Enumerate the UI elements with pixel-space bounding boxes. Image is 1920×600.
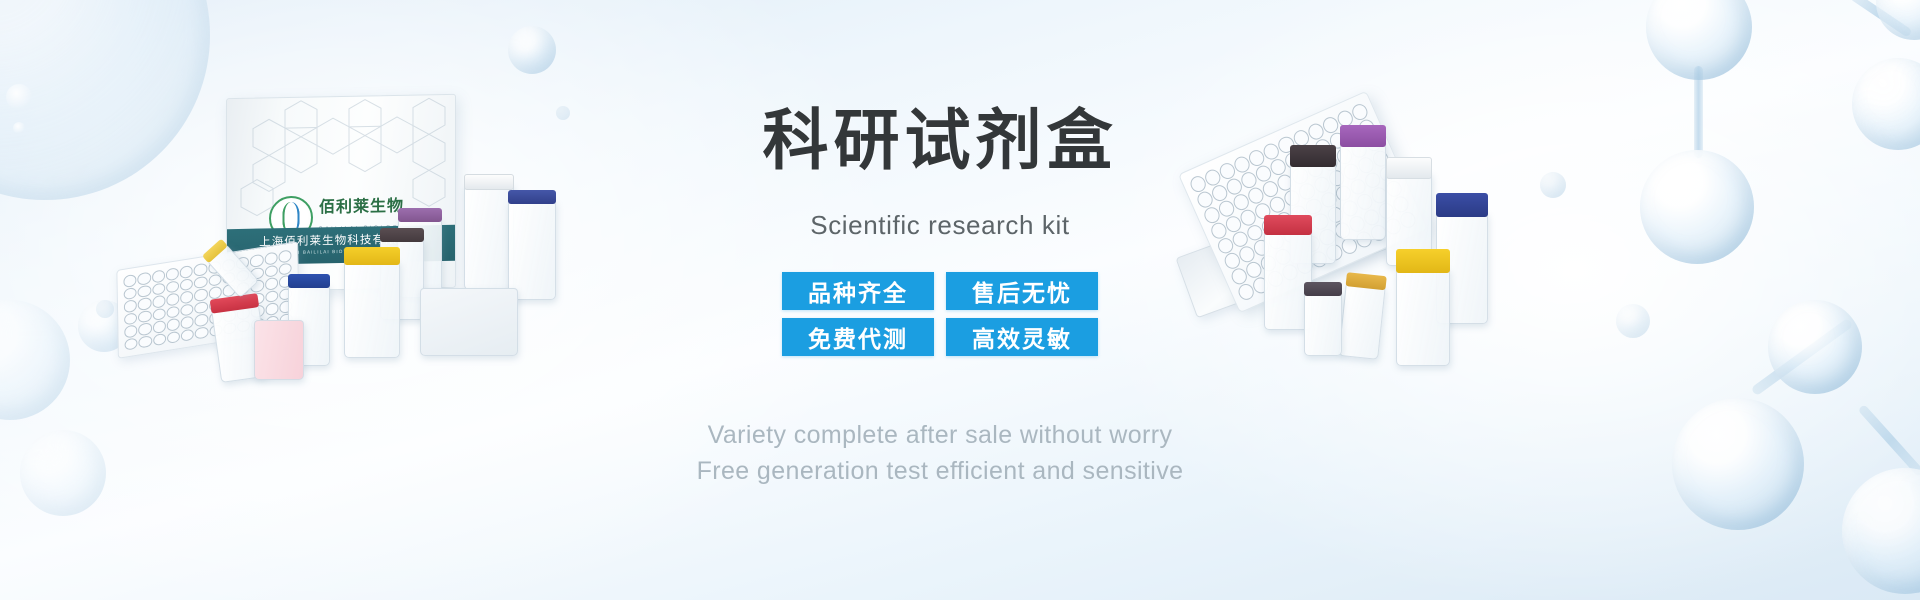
well: [139, 335, 152, 349]
sparkle-icon: [13, 122, 25, 134]
feature-badge-list: 品种齐全 售后无忧 免费代测 高效灵敏: [782, 272, 1098, 356]
well: [124, 312, 137, 326]
well: [152, 282, 165, 296]
molecule-atom-icon: [1876, 0, 1920, 40]
well: [166, 318, 179, 332]
well: [180, 303, 193, 317]
vial-pink-body: [254, 320, 304, 380]
vial-cap-darkgray: [380, 228, 424, 242]
well: [250, 254, 263, 268]
bubble-icon: [0, 300, 70, 420]
vial-cap-white: [464, 174, 514, 190]
molecule-atom-icon: [1672, 398, 1804, 530]
well: [124, 324, 137, 338]
molecule-atom-icon: [1852, 58, 1920, 150]
well: [180, 290, 193, 304]
vial-stand-rear: [420, 288, 518, 356]
vial-cap-blue: [508, 190, 556, 204]
well: [194, 288, 207, 302]
molecule-bond-icon: [1751, 318, 1854, 397]
logo-name-cn: 佰利莱生物: [319, 198, 404, 217]
well: [180, 278, 193, 292]
well: [124, 299, 137, 313]
vial-cap-amber: [1346, 272, 1387, 290]
well: [194, 263, 207, 277]
feature-badge-sensitive[interactable]: 高效灵敏: [946, 318, 1098, 356]
well: [264, 264, 277, 278]
banner-tagline: Variety complete after sale without worr…: [560, 418, 1320, 489]
vial-cap-purple: [398, 208, 442, 222]
well: [138, 297, 151, 311]
well: [124, 286, 137, 300]
vial-cap-yellow-small: [202, 239, 228, 264]
well: [137, 272, 150, 286]
well: [152, 320, 165, 334]
well: [124, 337, 137, 351]
well: [180, 265, 193, 279]
well: [264, 252, 277, 266]
molecule-bond-icon: [1694, 66, 1703, 158]
vial-cap-navy: [288, 274, 330, 288]
well: [166, 267, 179, 281]
vial-yellow-cap: [344, 260, 400, 358]
tagline-line-2: Free generation test efficient and sensi…: [560, 454, 1320, 490]
vial-yellow-cap-right: [1396, 268, 1450, 366]
vial-cap-blue: [1436, 193, 1488, 217]
feature-badge-variety[interactable]: 品种齐全: [782, 272, 934, 310]
product-photo-left: 佰利莱生物 BAILILAI BIOLOGY 上海佰利莱生物科技有限公司 SHA…: [108, 88, 548, 378]
well: [194, 301, 207, 315]
vial-blue-cap: [508, 200, 556, 300]
well: [265, 289, 278, 303]
well: [152, 307, 165, 321]
bubble-icon: [508, 26, 556, 74]
well: [166, 292, 179, 306]
page-title: 科研试剂盒: [560, 108, 1320, 174]
well: [123, 274, 136, 288]
bubble-icon: [20, 430, 106, 516]
sparkle-icon: [6, 84, 32, 110]
well: [138, 309, 151, 323]
well: [138, 322, 151, 336]
molecule-bond-icon: [1849, 0, 1912, 38]
molecule-atom-icon: [1842, 468, 1920, 594]
well: [278, 249, 291, 263]
well: [152, 295, 165, 309]
molecule-atom-icon: [1646, 0, 1752, 80]
well: [181, 328, 194, 342]
well: [153, 333, 166, 347]
well: [265, 302, 278, 316]
well: [166, 280, 179, 294]
molecule-atom-icon: [1640, 150, 1754, 264]
feature-badge-after-sale[interactable]: 售后无忧: [946, 272, 1098, 310]
vial-cap-purple: [1340, 125, 1386, 147]
vial-cap-white: [1386, 157, 1432, 179]
vial-white-tall: [464, 184, 514, 290]
well: [265, 277, 278, 291]
vial-amber-cap-right: [1338, 282, 1386, 360]
hero-banner: 佰利莱生物 BAILILAI BIOLOGY 上海佰利莱生物科技有限公司 SHA…: [0, 0, 1920, 600]
well: [181, 315, 194, 329]
feature-badge-free-test[interactable]: 免费代测: [782, 318, 934, 356]
well: [167, 330, 180, 344]
vial-cap-yellow: [1396, 249, 1450, 273]
well: [152, 269, 165, 283]
vial-purple-cap-right: [1340, 142, 1386, 240]
well: [195, 326, 208, 340]
tagline-line-1: Variety complete after sale without worr…: [560, 418, 1320, 454]
molecule-bond-icon: [1858, 404, 1920, 477]
banner-text-block: 科研试剂盒 Scientific research kit 品种齐全 售后无忧 …: [560, 0, 1320, 600]
bubble-icon: [1616, 304, 1650, 338]
well: [195, 313, 208, 327]
well: [194, 275, 207, 289]
well: [166, 305, 179, 319]
page-subtitle: Scientific research kit: [560, 212, 1320, 238]
molecule-atom-icon: [1768, 300, 1862, 394]
vial-cap-yellow: [344, 247, 400, 265]
well: [138, 284, 151, 298]
